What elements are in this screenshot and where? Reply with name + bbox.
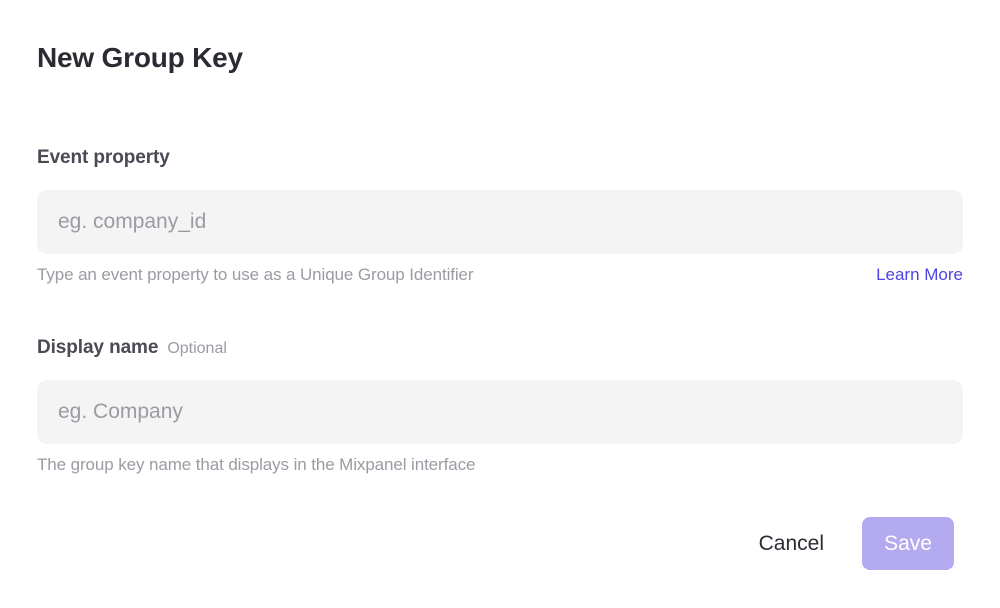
display-name-optional-tag: Optional (167, 338, 227, 360)
dialog-footer-actions: Cancel Save (759, 517, 954, 570)
page-title: New Group Key (37, 41, 243, 75)
event-property-label-row: Event property (37, 146, 963, 170)
new-group-key-dialog: New Group Key Event property Type an eve… (0, 0, 1000, 608)
display-name-helper-text: The group key name that displays in the … (37, 454, 475, 476)
display-name-helper-row: The group key name that displays in the … (37, 454, 963, 476)
cancel-button[interactable]: Cancel (759, 517, 824, 570)
display-name-label: Display name (37, 336, 158, 360)
field-group-display-name: Display name Optional The group key name… (37, 336, 963, 476)
display-name-label-row: Display name Optional (37, 336, 963, 360)
learn-more-link[interactable]: Learn More (876, 264, 963, 286)
event-property-input[interactable] (37, 190, 963, 254)
event-property-label: Event property (37, 146, 170, 170)
save-button[interactable]: Save (862, 517, 954, 570)
display-name-input[interactable] (37, 380, 963, 444)
event-property-helper-text: Type an event property to use as a Uniqu… (37, 264, 473, 286)
field-group-event-property: Event property Type an event property to… (37, 146, 963, 286)
event-property-helper-row: Type an event property to use as a Uniqu… (37, 264, 963, 286)
